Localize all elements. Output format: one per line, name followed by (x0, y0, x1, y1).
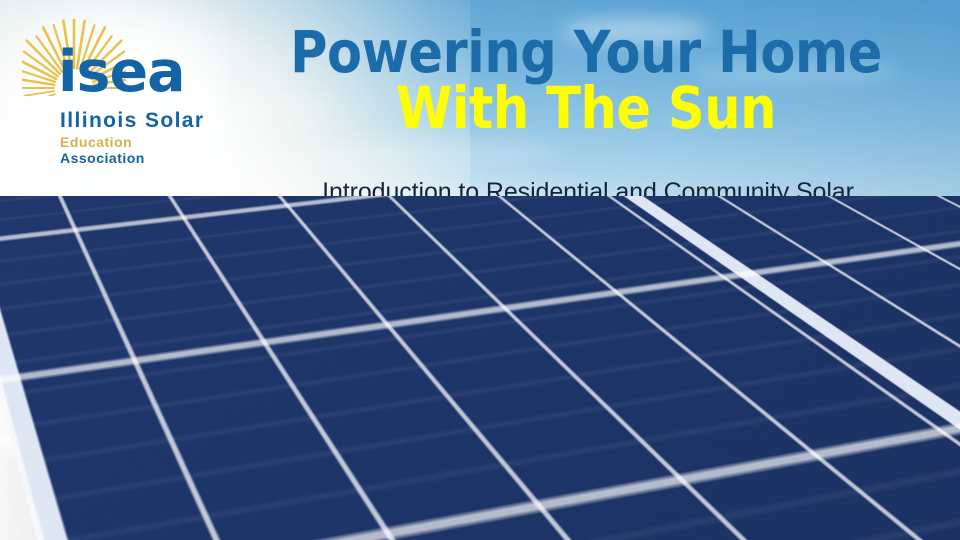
website-url[interactable]: www.illinoissolar.org (722, 438, 896, 458)
title-line-2: With The Sun (273, 78, 900, 138)
title-line-1: Powering Your Home (273, 22, 900, 82)
logo-line-illinois-solar: Illinois Solar (60, 109, 204, 133)
presentation-slide: isea Illinois Solar Education Associatio… (0, 0, 960, 540)
isea-logo[interactable]: isea Illinois Solar Education Associatio… (14, 8, 214, 156)
logo-wordmark: isea (58, 44, 185, 101)
presenter-role: Solar Ambassador (44, 469, 235, 497)
logo-word-association: Association (60, 150, 145, 166)
presenter-name: Peter Gorr (44, 440, 235, 468)
logo-word-education: Education (60, 134, 132, 150)
slide-title: Powering Your Home With The Sun (230, 22, 942, 139)
presenter-block: Peter Gorr Solar Ambassador (44, 440, 235, 497)
logo-line-education-association: Education Association (60, 134, 214, 166)
slide-subtitle: Introduction to Residential and Communit… (230, 178, 946, 207)
